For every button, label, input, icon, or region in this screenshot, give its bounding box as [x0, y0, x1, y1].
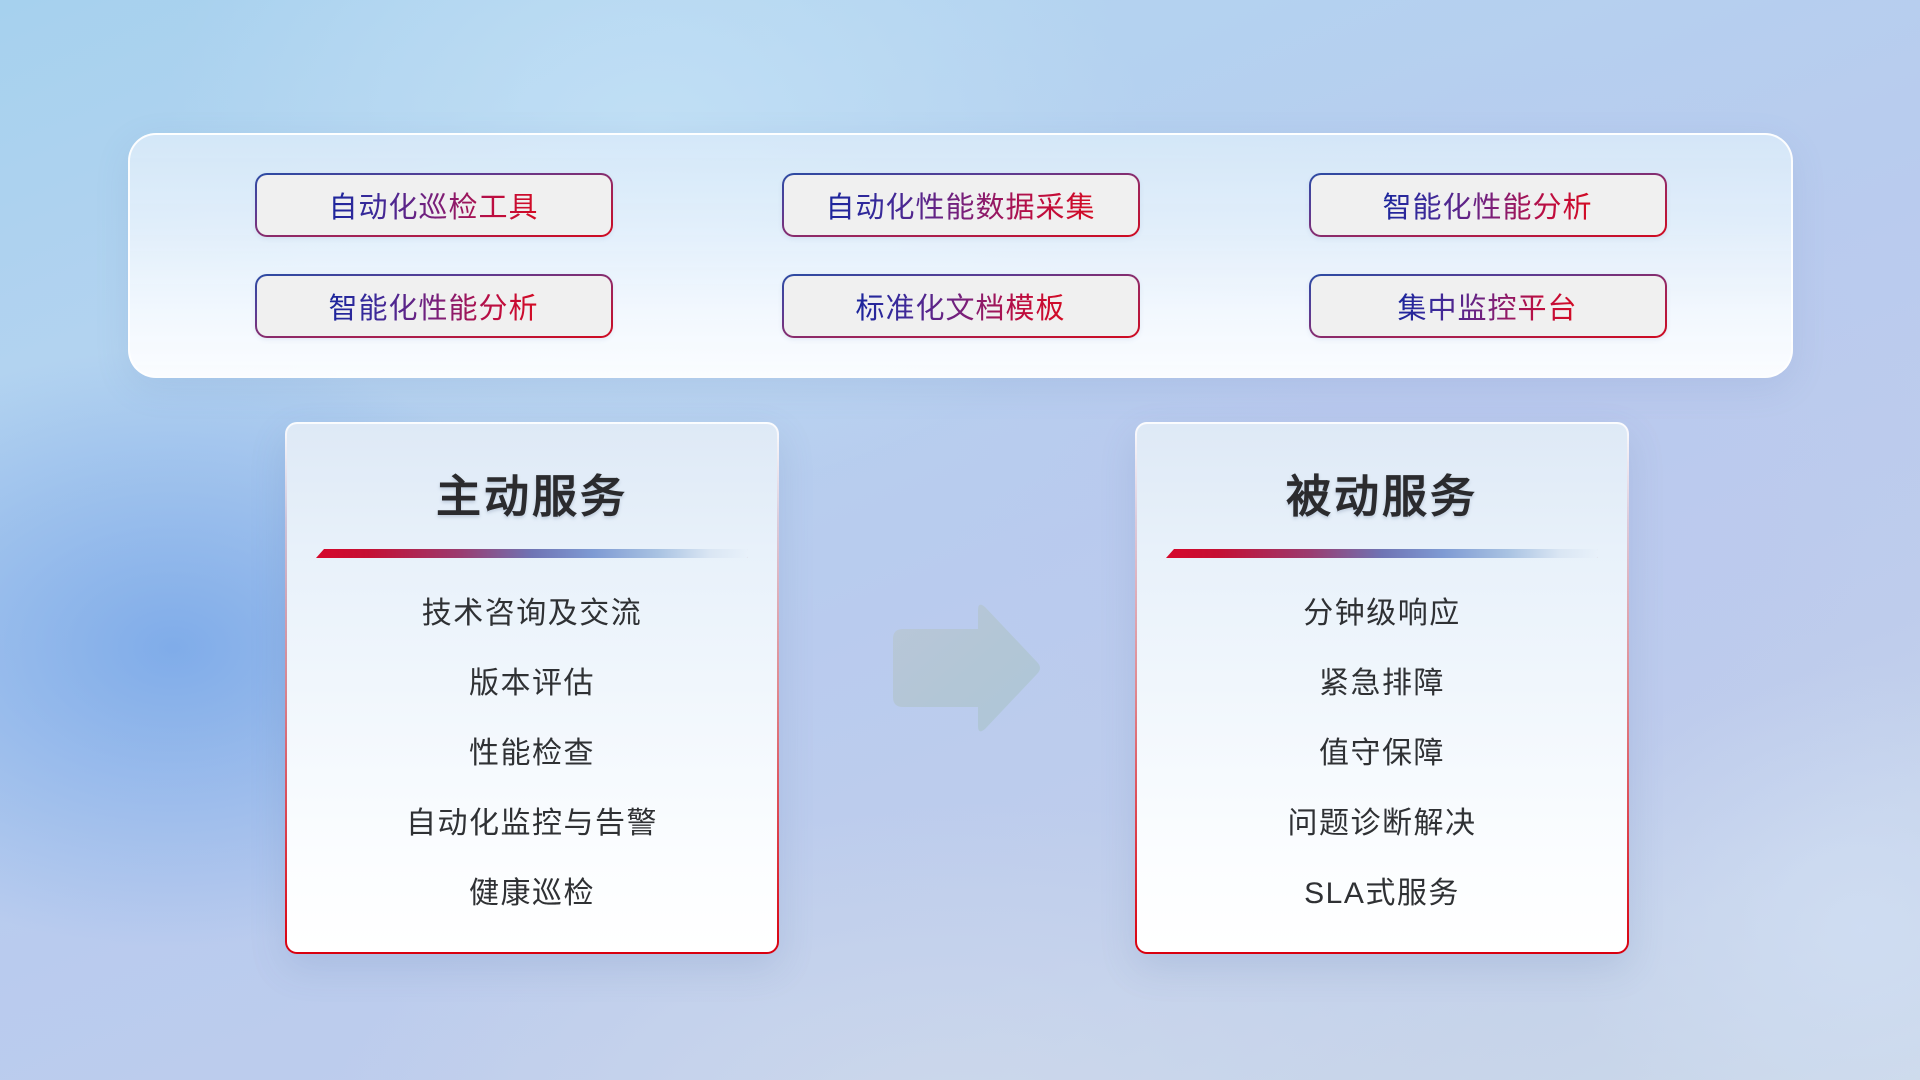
list-item[interactable]: 版本评估 — [469, 658, 595, 702]
list-item[interactable]: SLA式服务 — [1304, 868, 1460, 912]
card-title: 主动服务 — [436, 460, 628, 525]
capability-pill-4[interactable]: 智能化性能分析 — [255, 274, 613, 338]
capability-pill-2[interactable]: 自动化性能数据采集 — [782, 173, 1140, 237]
capability-pill-6[interactable]: 集中监控平台 — [1309, 274, 1667, 338]
list-item[interactable]: 分钟级响应 — [1303, 588, 1461, 632]
capability-pill-label: 集中监控平台 — [1397, 285, 1577, 327]
list-item[interactable]: 问题诊断解决 — [1288, 798, 1477, 842]
slide-canvas: 自动化巡检工具 自动化性能数据采集 智能化性能分析 智能化性能分析 标准化文档模… — [0, 0, 1920, 1080]
list-item[interactable]: 性能检查 — [469, 728, 595, 772]
service-card-passive: 被动服务 分钟级响应 紧急排障 值守保障 问题诊断解决 SLA式服务 — [1135, 422, 1629, 954]
capability-panel: 自动化巡检工具 自动化性能数据采集 智能化性能分析 智能化性能分析 标准化文档模… — [128, 133, 1793, 378]
title-divider — [1166, 549, 1598, 558]
capability-pill-5[interactable]: 标准化文档模板 — [782, 274, 1140, 338]
title-divider — [316, 549, 748, 558]
list-item[interactable]: 健康巡检 — [469, 868, 595, 912]
capability-pill-label: 智能化性能分析 — [1382, 184, 1592, 226]
card-title: 被动服务 — [1286, 460, 1478, 525]
service-item-list: 分钟级响应 紧急排障 值守保障 问题诊断解决 SLA式服务 — [1163, 588, 1601, 912]
list-item[interactable]: 自动化监控与告警 — [406, 798, 658, 842]
list-item[interactable]: 紧急排障 — [1319, 658, 1445, 702]
capability-pill-3[interactable]: 智能化性能分析 — [1309, 173, 1667, 237]
arrow-right-icon — [885, 603, 1040, 740]
list-item[interactable]: 值守保障 — [1319, 728, 1445, 772]
capability-pill-1[interactable]: 自动化巡检工具 — [255, 173, 613, 237]
capability-pill-label: 自动化巡检工具 — [328, 184, 538, 226]
service-card-active: 主动服务 技术咨询及交流 版本评估 性能检查 自动化监控与告警 健康巡检 — [285, 422, 779, 954]
list-item[interactable]: 技术咨询及交流 — [422, 588, 643, 632]
capability-pill-label: 智能化性能分析 — [328, 285, 538, 327]
capability-pill-label: 自动化性能数据采集 — [825, 184, 1095, 226]
capability-pill-label: 标准化文档模板 — [855, 285, 1065, 327]
service-item-list: 技术咨询及交流 版本评估 性能检查 自动化监控与告警 健康巡检 — [313, 588, 751, 912]
